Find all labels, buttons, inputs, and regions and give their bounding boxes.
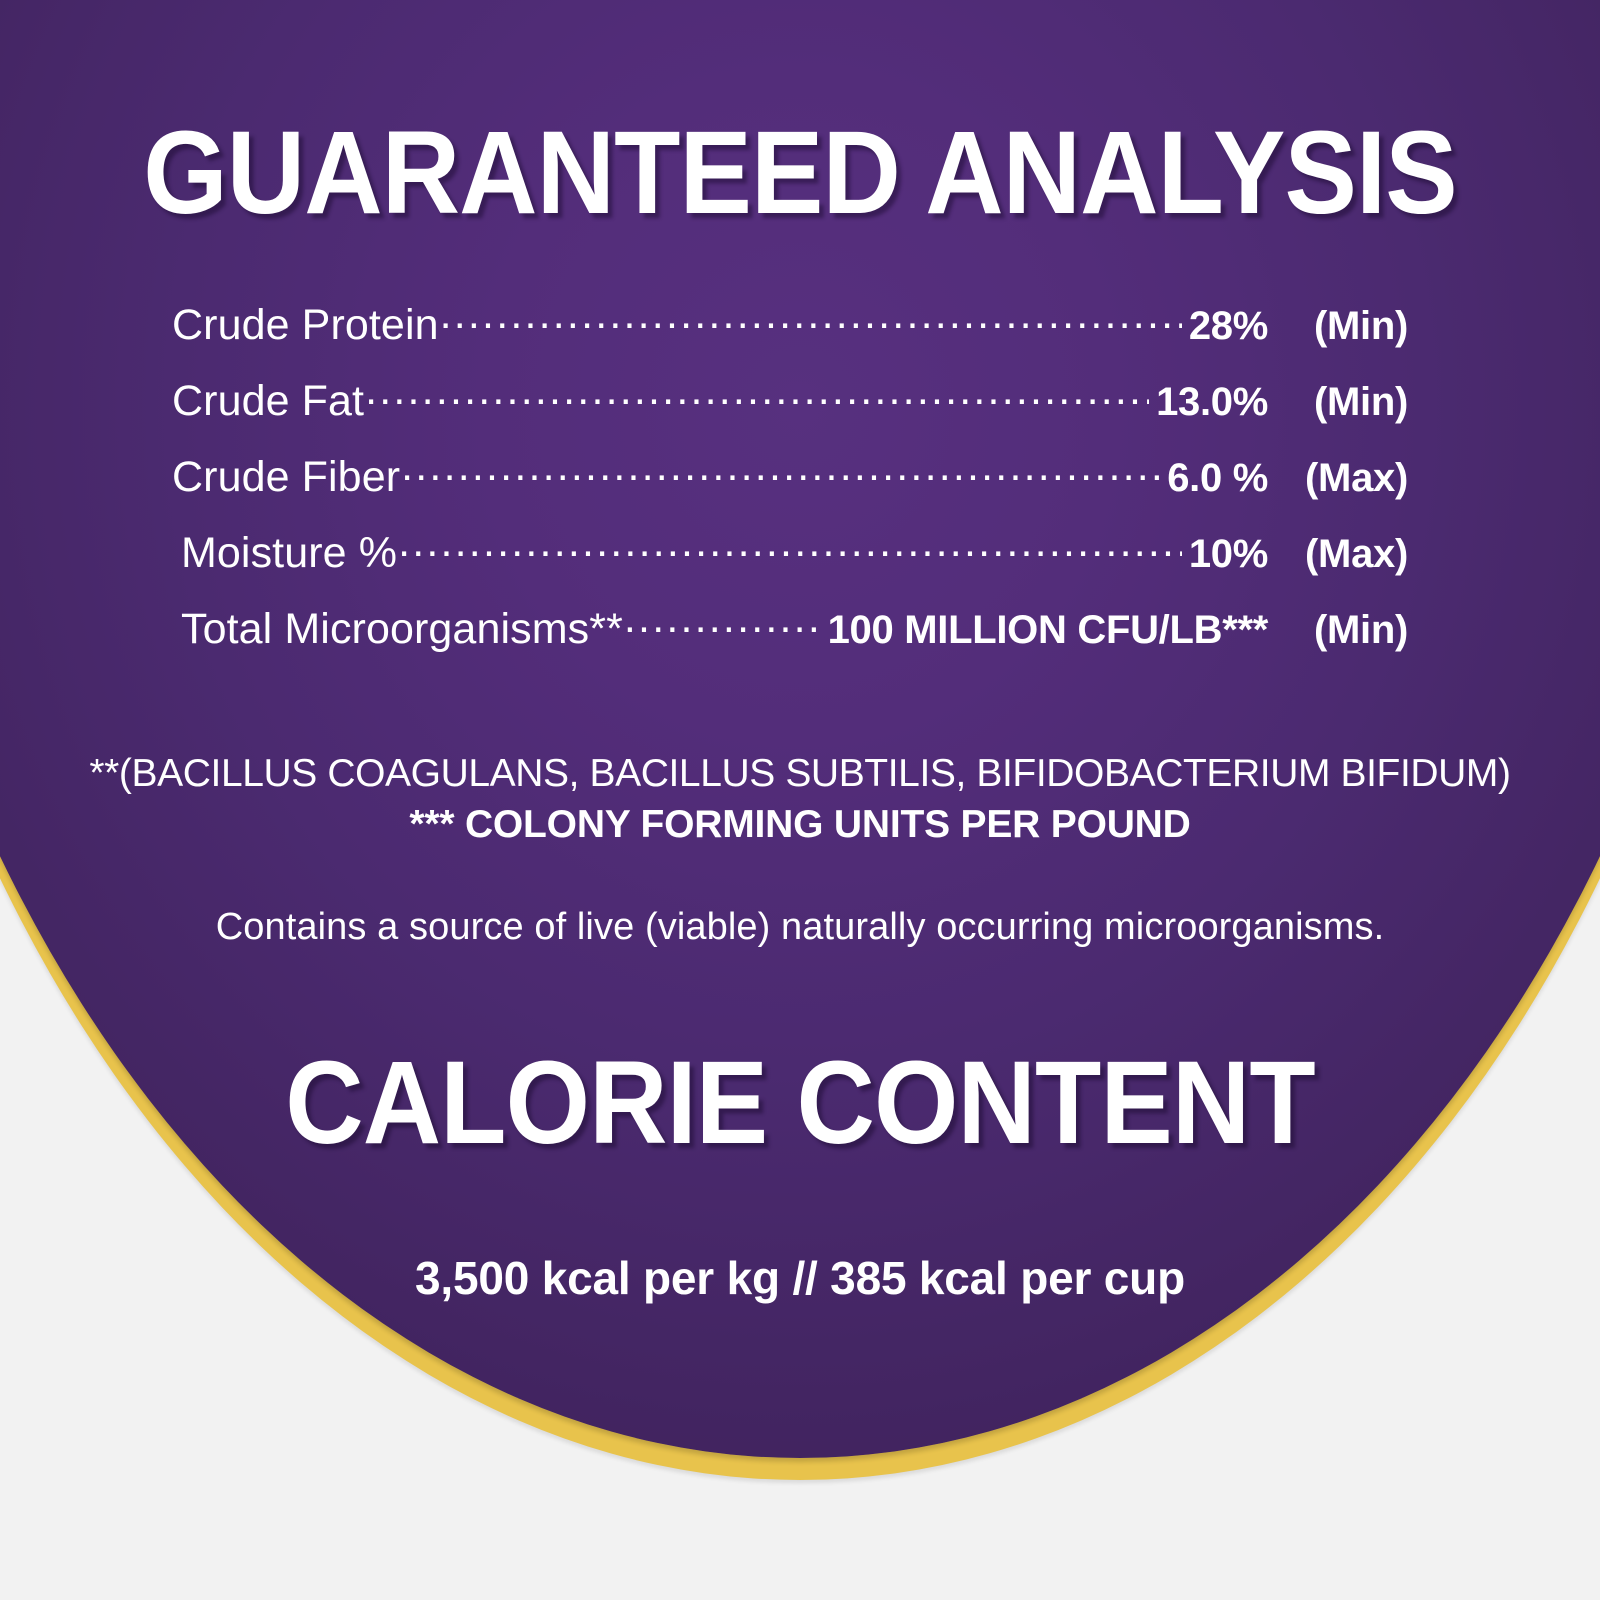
leader-dots <box>398 524 1182 567</box>
live-microorganisms-statement: Contains a source of live (viable) natur… <box>0 906 1600 949</box>
page-title-guaranteed-analysis: GUARANTEED ANALYSIS <box>64 114 1536 232</box>
row-label: Crude Protein <box>172 301 439 350</box>
row-value: 10% <box>1184 532 1268 577</box>
leader-dots <box>365 372 1149 415</box>
row-qualifier: (Max) <box>1268 532 1408 577</box>
row-value: 13.0% <box>1151 380 1268 425</box>
leader-dots <box>624 600 821 643</box>
row-qualifier: (Min) <box>1268 304 1408 349</box>
leader-dots <box>440 296 1182 339</box>
footnote-organism-list: **(BACILLUS COAGULANS, BACILLUS SUBTILIS… <box>0 748 1600 799</box>
guaranteed-analysis-table: Crude Protein 28% (Min) Crude Fat 13.0% … <box>172 296 1408 676</box>
table-row: Crude Fiber 6.0 % (Max) <box>172 448 1408 524</box>
table-row: Total Microorganisms** 100 MILLION CFU/L… <box>172 600 1408 676</box>
leader-dots <box>401 448 1160 491</box>
table-row: Crude Fat 13.0% (Min) <box>172 372 1408 448</box>
table-row: Crude Protein 28% (Min) <box>172 296 1408 372</box>
row-label: Crude Fat <box>172 377 364 426</box>
row-qualifier: (Min) <box>1268 380 1408 425</box>
footnote-cfu-definition: *** COLONY FORMING UNITS PER POUND <box>0 799 1600 850</box>
table-row: Moisture % 10% (Max) <box>172 524 1408 600</box>
calorie-content-value: 3,500 kcal per kg // 385 kcal per cup <box>0 1251 1600 1305</box>
row-qualifier: (Max) <box>1268 456 1408 501</box>
row-qualifier: (Min) <box>1268 608 1408 653</box>
panel-content: GUARANTEED ANALYSIS Crude Protein 28% (M… <box>0 0 1600 1600</box>
row-label: Moisture % <box>181 529 397 578</box>
row-value: 100 MILLION CFU/LB*** <box>823 608 1268 653</box>
footnotes: **(BACILLUS COAGULANS, BACILLUS SUBTILIS… <box>0 748 1600 851</box>
row-value: 6.0 % <box>1162 456 1268 501</box>
row-label: Total Microorganisms** <box>181 605 623 654</box>
row-label: Crude Fiber <box>172 453 400 502</box>
row-value: 28% <box>1184 304 1268 349</box>
page-title-calorie-content: CALORIE CONTENT <box>64 1044 1536 1162</box>
